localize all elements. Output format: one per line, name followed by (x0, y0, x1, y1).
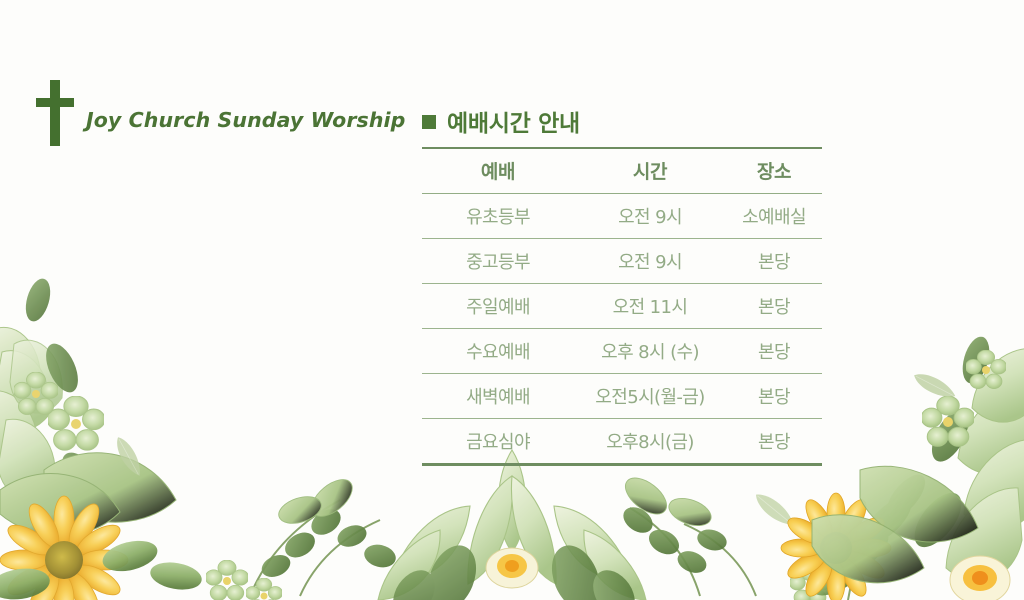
column-header-place: 장소 (726, 148, 822, 194)
column-header-time: 시간 (574, 148, 726, 194)
cell-service: 유초등부 (422, 194, 574, 239)
brand-name: Joy Church Sunday Worship (86, 108, 405, 132)
panel-title: 예배시간 안내 (422, 104, 822, 147)
cell-service: 금요심야 (422, 419, 574, 465)
cell-service: 주일예배 (422, 284, 574, 329)
table-row: 중고등부 오전 9시 본당 (422, 239, 822, 284)
table-row: 새벽예배 오전5시(월-금) 본당 (422, 374, 822, 419)
worship-schedule-table: 예배 시간 장소 유초등부 오전 9시 소예배실 중고등부 오전 9시 본당 주… (422, 147, 822, 466)
cell-service: 수요예배 (422, 329, 574, 374)
cell-time: 오전5시(월-금) (574, 374, 726, 419)
cell-place: 본당 (726, 284, 822, 329)
cell-place: 본당 (726, 329, 822, 374)
worship-schedule-panel: 예배시간 안내 예배 시간 장소 유초등부 오전 9시 소예배실 (422, 104, 822, 466)
table-row: 금요심야 오후8시(금) 본당 (422, 419, 822, 465)
cross-icon (34, 78, 76, 148)
cell-time: 오전 9시 (574, 239, 726, 284)
table-header-row: 예배 시간 장소 (422, 148, 822, 194)
slide-canvas: Joy Church Sunday Worship 예배시간 안내 예배 시간 … (0, 0, 1024, 600)
brand-lockup: Joy Church Sunday Worship (34, 78, 405, 148)
column-header-service: 예배 (422, 148, 574, 194)
cell-time: 오후8시(금) (574, 419, 726, 465)
table-row: 주일예배 오전 11시 본당 (422, 284, 822, 329)
cell-time: 오후 8시 (수) (574, 329, 726, 374)
cell-time: 오전 9시 (574, 194, 726, 239)
table-row: 수요예배 오후 8시 (수) 본당 (422, 329, 822, 374)
cell-time: 오전 11시 (574, 284, 726, 329)
table-body: 유초등부 오전 9시 소예배실 중고등부 오전 9시 본당 주일예배 오전 11… (422, 194, 822, 465)
cell-service: 중고등부 (422, 239, 574, 284)
cell-service: 새벽예배 (422, 374, 574, 419)
cell-place: 소예배실 (726, 194, 822, 239)
panel-title-text: 예배시간 안내 (447, 104, 580, 138)
cell-place: 본당 (726, 374, 822, 419)
square-bullet-icon (422, 115, 436, 129)
cell-place: 본당 (726, 419, 822, 465)
cell-place: 본당 (726, 239, 822, 284)
table-header: 예배 시간 장소 (422, 148, 822, 194)
table-row: 유초등부 오전 9시 소예배실 (422, 194, 822, 239)
